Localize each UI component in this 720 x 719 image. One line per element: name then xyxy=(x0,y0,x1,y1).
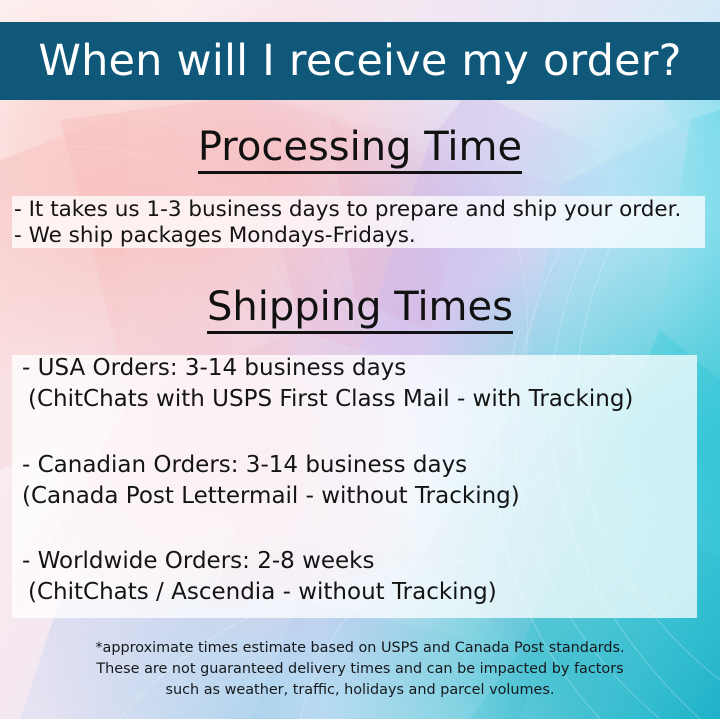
shipping-entry-usa-main: - USA Orders: 3-14 business days xyxy=(22,353,702,384)
footnote-line-1: *approximate times estimate based on USP… xyxy=(0,638,720,659)
shipping-entry-worldwide-sub: (ChitChats / Ascendia - without Tracking… xyxy=(22,577,702,608)
poster-title: When will I receive my order? xyxy=(38,40,681,83)
title-banner: When will I receive my order? xyxy=(0,22,720,100)
footnote-disclaimer: *approximate times estimate based on USP… xyxy=(0,638,720,701)
shipping-entry-worldwide: - Worldwide Orders: 2-8 weeks (ChitChats… xyxy=(22,546,702,608)
section-heading-shipping-times: Shipping Times xyxy=(0,286,720,328)
shipping-entry-canada: - Canadian Orders: 3-14 business days (C… xyxy=(22,450,702,512)
shipping-entry-canada-sub: (Canada Post Lettermail - without Tracki… xyxy=(22,481,702,512)
shipping-entry-usa: - USA Orders: 3-14 business days (ChitCh… xyxy=(22,353,702,415)
poster-canvas: When will I receive my order? Processing… xyxy=(0,0,720,719)
shipping-entry-usa-sub: (ChitChats with USPS First Class Mail - … xyxy=(22,384,702,415)
section-heading-processing-time-label: Processing Time xyxy=(198,124,522,174)
footnote-line-2: These are not guaranteed delivery times … xyxy=(0,659,720,680)
processing-time-line-1: - It takes us 1-3 business days to prepa… xyxy=(14,197,714,223)
section-heading-shipping-times-label: Shipping Times xyxy=(207,284,513,334)
processing-time-text-block: - It takes us 1-3 business days to prepa… xyxy=(14,197,714,248)
footnote-line-3: such as weather, traffic, holidays and p… xyxy=(0,680,720,701)
processing-time-line-2: - We ship packages Mondays-Fridays. xyxy=(14,223,714,249)
shipping-entry-worldwide-main: - Worldwide Orders: 2-8 weeks xyxy=(22,546,702,577)
section-heading-processing-time: Processing Time xyxy=(0,126,720,168)
shipping-entry-canada-main: - Canadian Orders: 3-14 business days xyxy=(22,450,702,481)
